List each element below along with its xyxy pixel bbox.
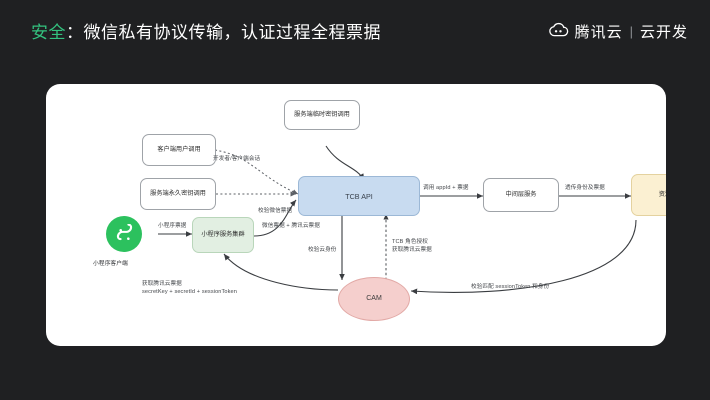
page-title-highlight: 安全 bbox=[31, 23, 66, 42]
node-label: 小程序服务集群 bbox=[201, 231, 244, 239]
node-client-user-call[interactable]: 客户端用户调用 bbox=[142, 134, 216, 166]
edge-label-verify-wechat-ticket: 校验微信票据 bbox=[258, 208, 292, 216]
node-label: 客户端用户调用 bbox=[157, 146, 200, 154]
edge-label-pass-identity-ticket: 透传身份及票据 bbox=[565, 185, 605, 193]
edge-label-verify-session-token: 校验匹配 sessionToken 和身份 bbox=[471, 284, 549, 292]
node-server-perm-key-call[interactable]: 服务端永久密钥调用 bbox=[140, 178, 216, 210]
node-miniprogram-client-label: 小程序客户端 bbox=[93, 258, 128, 267]
edge-label-get-tencent-ticket: 获取腾讯云票据 secretKey + secretId + sessionTo… bbox=[142, 281, 237, 296]
edge-label-dev-client-session: 开发者/客户端会话 bbox=[213, 156, 260, 164]
edge-label-call-appid-ticket: 调用 appId + 票据 bbox=[423, 185, 469, 193]
brand-name: 腾讯云 bbox=[575, 21, 623, 42]
page-title: 安全：微信私有协议传输，认证过程全程票据 bbox=[31, 18, 381, 43]
brand-sub: 云开发 bbox=[640, 21, 688, 42]
brand-lockup: 腾讯云 | 云开发 bbox=[547, 20, 688, 42]
brand-separator: | bbox=[630, 24, 633, 39]
miniprogram-client-avatar[interactable] bbox=[106, 216, 142, 252]
slide-root: 安全：微信私有协议传输，认证过程全程票据 腾讯云 | 云开发 bbox=[0, 0, 710, 400]
node-resource-layer[interactable]: 资源层 bbox=[631, 174, 666, 216]
node-label: 服务端临时密钥调用 bbox=[294, 111, 350, 119]
slide-header: 安全：微信私有协议传输，认证过程全程票据 腾讯云 | 云开发 bbox=[0, 0, 710, 64]
page-title-colon: ： bbox=[66, 23, 84, 42]
node-label: 服务端永久密钥调用 bbox=[150, 190, 206, 198]
page-title-rest: 微信私有协议传输，认证过程全程票据 bbox=[84, 23, 382, 42]
wechat-miniprogram-icon bbox=[114, 224, 135, 245]
edge-label-wechat-plus-cloud-ticket: 微信票据 + 腾讯云票据 bbox=[262, 223, 320, 231]
tencent-cloud-logo-icon bbox=[547, 20, 569, 42]
edge-label-verify-cloud-identity: 校验云身份 bbox=[308, 247, 336, 255]
diagram-card: 客户端用户调用 服务端临时密钥调用 服务端永久密钥调用 TCB API 中间层服… bbox=[46, 84, 666, 346]
node-label: CAM bbox=[366, 295, 382, 304]
node-middle-layer-service[interactable]: 中间层服务 bbox=[483, 178, 559, 212]
node-label: 中间层服务 bbox=[506, 191, 537, 199]
node-tcb-api[interactable]: TCB API bbox=[298, 176, 420, 216]
node-label: TCB API bbox=[345, 192, 373, 201]
node-server-temp-key-call[interactable]: 服务端临时密钥调用 bbox=[284, 100, 360, 130]
node-label: 资源层 bbox=[659, 191, 666, 199]
edge-label-tcb-role-auth: TCB 角色授权 获取腾讯云票据 bbox=[392, 239, 432, 254]
node-miniprogram-cluster[interactable]: 小程序服务集群 bbox=[192, 217, 254, 253]
edge-label-miniprogram-ticket: 小程序票据 bbox=[158, 223, 186, 231]
card-reflection: 获取腾讯云票据 secretKey + secretId + sessionTo… bbox=[46, 347, 666, 399]
node-cam[interactable]: CAM bbox=[338, 277, 410, 321]
